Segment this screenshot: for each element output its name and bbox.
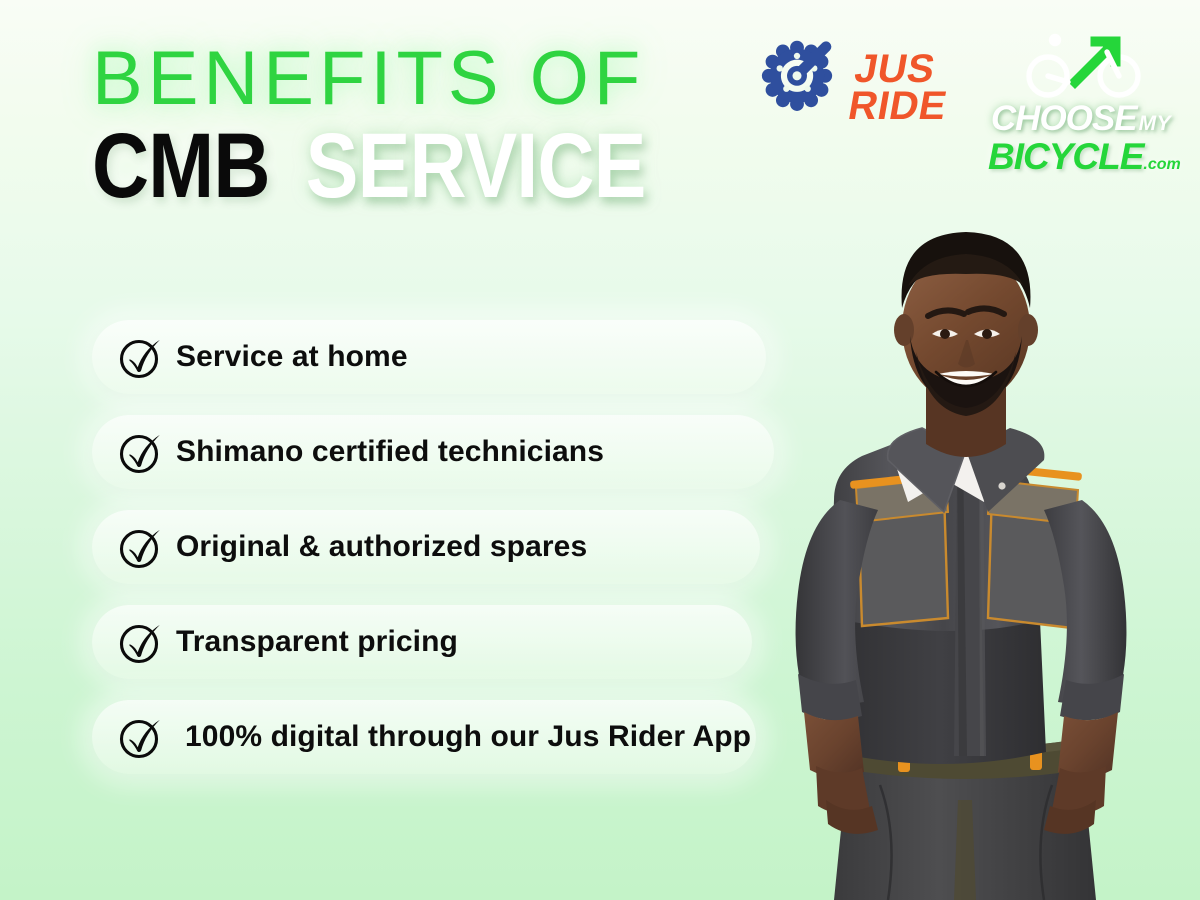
check-circle-icon — [118, 524, 164, 570]
check-circle-icon — [118, 334, 164, 380]
list-item[interactable]: Transparent pricing — [92, 605, 752, 679]
list-item[interactable]: Shimano certified technicians — [92, 415, 774, 489]
benefit-label: Original & authorized spares — [176, 530, 587, 564]
headline-word-cmb: CMB — [92, 124, 270, 208]
check-circle-icon — [118, 429, 164, 475]
chainring-crank-icon — [749, 40, 845, 136]
page-title: BENEFITS OF CMBSERVICE — [92, 42, 712, 235]
list-item[interactable]: Original & authorized spares — [92, 510, 760, 584]
benefit-label: 100% digital through our Jus Rider App — [185, 720, 751, 754]
benefit-label: Transparent pricing — [176, 625, 458, 659]
technician-photo — [730, 200, 1200, 900]
brand-logos: JUS RIDE — [749, 28, 1178, 175]
logo-choosemybicycle[interactable]: CHOOSEMY BICYCLE.com — [988, 28, 1178, 175]
logo-jus-ride-line2: RIDE — [846, 88, 950, 125]
headline-word-service: SERVICE — [273, 124, 646, 208]
benefit-label: Shimano certified technicians — [176, 435, 604, 469]
headline-line-service: CMBSERVICE — [92, 124, 712, 235]
benefit-label: Service at home — [176, 340, 408, 374]
logo-jus-ride[interactable]: JUS RIDE — [749, 28, 950, 136]
logo-jus-ride-wordmark: JUS RIDE — [846, 51, 957, 125]
logo-word-my: MY — [1139, 112, 1172, 135]
logo-choosemybicycle-line2: BICYCLE.com — [988, 138, 1178, 175]
logo-choosemybicycle-line1: CHOOSEMY — [984, 101, 1178, 136]
logo-word-bicycle: BICYCLE — [988, 136, 1143, 177]
check-circle-icon — [118, 714, 164, 760]
logo-jus-ride-line1: JUS — [852, 51, 956, 88]
list-item[interactable]: 100% digital through our Jus Rider App — [92, 700, 756, 774]
bicycle-arrow-icon — [1021, 30, 1146, 100]
list-item[interactable]: Service at home — [92, 320, 766, 394]
benefits-list: Service at home Shimano certified techni… — [92, 320, 782, 795]
headline-line-benefits: BENEFITS OF — [92, 42, 712, 116]
logo-word-dotcom: .com — [1143, 156, 1180, 173]
logo-word-choose: CHOOSE — [991, 99, 1137, 138]
check-circle-icon — [118, 619, 164, 665]
promo-poster: BENEFITS OF CMBSERVICE — [0, 0, 1200, 900]
